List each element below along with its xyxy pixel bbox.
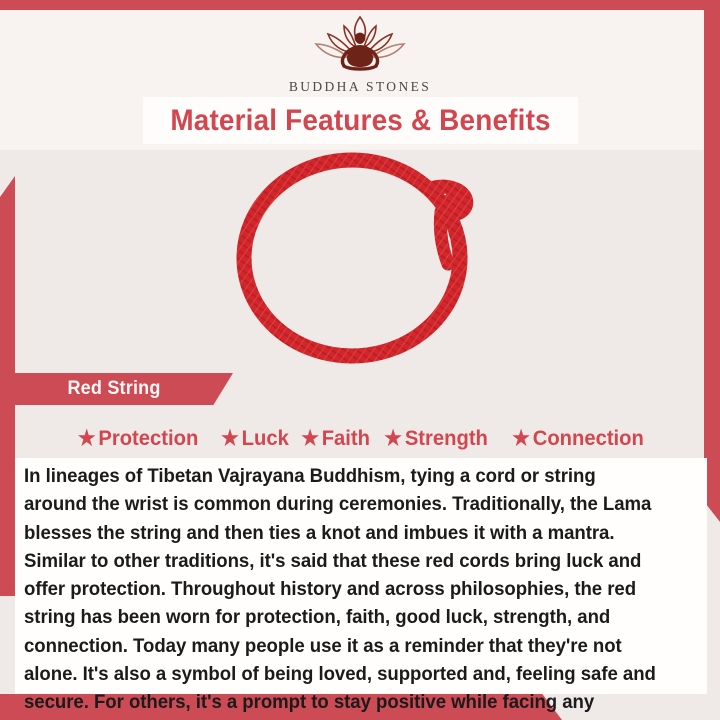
product-image	[0, 150, 720, 365]
brand-logo: BUDDHA STONES	[0, 14, 720, 95]
product-name-label: Red String	[67, 378, 160, 400]
star-icon: ★	[384, 428, 402, 449]
benefit-item-faith: ★ Faith	[298, 426, 374, 451]
benefit-item-strength: ★ Strength	[380, 426, 491, 451]
benefits-row: ★ Protection ★ Luck ★ Faith ★ Strength ★…	[15, 420, 707, 456]
infographic-page: BUDDHA STONES Material Features & Benefi…	[0, 0, 720, 720]
star-icon: ★	[302, 428, 320, 449]
star-icon: ★	[512, 428, 530, 449]
benefit-label: Strength	[404, 426, 487, 451]
star-icon: ★	[78, 428, 96, 449]
star-icon: ★	[221, 428, 239, 449]
benefit-item-connection: ★ Connection	[508, 426, 647, 451]
description-card: In lineages of Tibetan Vajrayana Buddhis…	[15, 458, 707, 694]
benefit-label: Faith	[322, 426, 370, 451]
benefit-label: Protection	[99, 426, 199, 451]
headline-banner: Material Features & Benefits	[143, 97, 578, 144]
page-title: Material Features & Benefits	[170, 104, 550, 138]
brand-name: BUDDHA STONES	[289, 79, 431, 95]
top-red-band	[0, 0, 720, 10]
benefit-label: Connection	[532, 426, 643, 451]
benefit-label: Luck	[242, 426, 289, 451]
benefit-item-luck: ★ Luck	[218, 426, 293, 451]
lotus-meditation-icon	[300, 14, 420, 76]
product-name-tag: Red String	[15, 373, 233, 405]
benefit-item-protection: ★ Protection	[74, 426, 202, 451]
description-text: In lineages of Tibetan Vajrayana Buddhis…	[24, 462, 662, 720]
red-braided-string-bracelet-icon	[226, 152, 494, 364]
